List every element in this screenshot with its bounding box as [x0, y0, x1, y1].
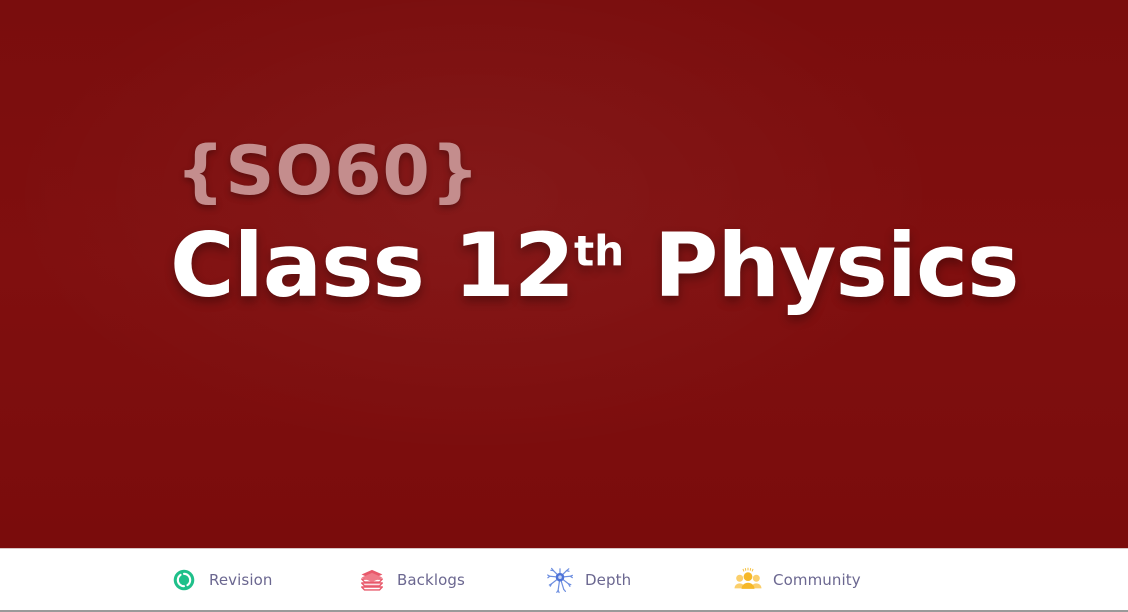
nav-label-community: Community — [773, 571, 861, 589]
nav-label-revision: Revision — [209, 571, 273, 589]
title-superscript: th — [574, 227, 624, 276]
book-stack-icon — [358, 566, 386, 594]
page-title: Class 12th Physics — [170, 220, 1070, 312]
bottom-nav-bar: Revision Backlogs — [0, 548, 1128, 612]
title-prefix: Class 12 — [170, 214, 574, 317]
hero-panel: {SO60} Class 12th Physics — [0, 0, 1128, 548]
nav-item-depth[interactable]: Depth — [546, 566, 734, 594]
bottom-nav-items: Revision Backlogs — [170, 566, 922, 594]
brand-tag: {SO60} — [176, 138, 1070, 206]
refresh-circle-icon — [170, 566, 198, 594]
nav-label-depth: Depth — [585, 571, 631, 589]
hero-content: {SO60} Class 12th Physics — [170, 138, 1070, 312]
nav-label-backlogs: Backlogs — [397, 571, 465, 589]
title-suffix: Physics — [624, 214, 1018, 317]
nav-item-revision[interactable]: Revision — [170, 566, 358, 594]
neuron-icon — [546, 566, 574, 594]
presentation-slide: {SO60} Class 12th Physics — [0, 0, 1128, 612]
nav-item-community[interactable]: Community — [734, 566, 922, 594]
people-group-icon — [734, 566, 762, 594]
nav-item-backlogs[interactable]: Backlogs — [358, 566, 546, 594]
